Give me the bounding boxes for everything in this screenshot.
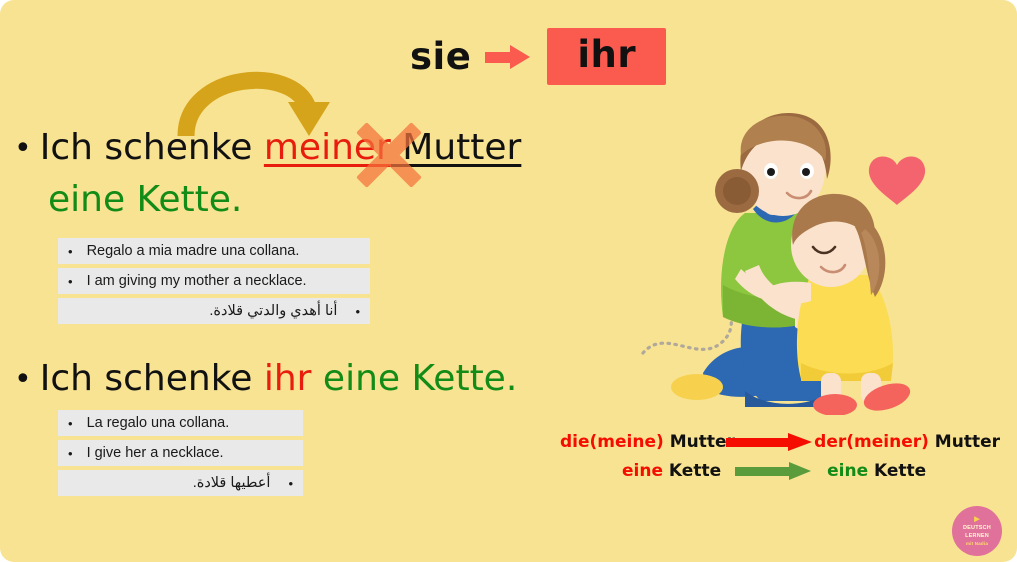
logo-line-two: mit Nadia bbox=[952, 541, 1002, 548]
channel-watermark-logo: ▶ DEUTSCH LERNEN mit Nadia bbox=[952, 506, 1002, 556]
pronoun-rule-group: sie ihr bbox=[410, 28, 666, 85]
bullet-icon: • bbox=[68, 275, 73, 288]
target-pronoun-box: ihr bbox=[547, 28, 666, 85]
source-pronoun: sie bbox=[410, 35, 471, 78]
sentence-two-part-three: eine Kette. bbox=[311, 358, 517, 399]
list-item: • أنا أهدي والدتي قلادة. bbox=[58, 298, 370, 324]
sentence-one-line-two: eine Kette. bbox=[48, 180, 242, 220]
list-item: • I am giving my mother a necklace. bbox=[58, 268, 370, 294]
slide-canvas: sie ihr •Ich schenke meiner Mutter eine … bbox=[0, 0, 1017, 562]
bullet-icon: • bbox=[14, 132, 32, 166]
bullet-icon: • bbox=[288, 477, 293, 490]
red-right-arrow-icon bbox=[726, 433, 801, 451]
legend-left-noun: Mutter bbox=[664, 432, 735, 452]
translation-arabic: أنا أهدي والدتي قلادة. bbox=[68, 303, 341, 319]
sentence-one-part-one: Ich schenke bbox=[40, 127, 264, 168]
sentence-one-period: . bbox=[231, 179, 242, 220]
legend-row-accusative-kette: eine Kette eine Kette bbox=[560, 461, 1000, 481]
grammar-legend: die(meine) Mutter der(meiner) Mutter ein… bbox=[560, 432, 1000, 481]
translations-block-two: • La regalo una collana. • I give her a … bbox=[58, 410, 303, 500]
translation-arabic: أعطيها قلادة. bbox=[68, 475, 274, 491]
legend-left-article: eine bbox=[622, 461, 663, 481]
list-item: • La regalo una collana. bbox=[58, 410, 303, 436]
bullet-icon: • bbox=[14, 363, 32, 397]
heart-icon bbox=[869, 156, 925, 205]
legend-right-article: der(meiner) bbox=[814, 432, 929, 452]
sentence-one-object: eine Kette bbox=[48, 179, 231, 220]
play-icon: ▶ bbox=[952, 515, 1002, 525]
translation-english: I give her a necklace. bbox=[87, 445, 224, 461]
translations-block-one: • Regalo a mia madre una collana. • I am… bbox=[58, 238, 370, 328]
legend-right-noun: Mutter bbox=[929, 432, 1000, 452]
mother-hugging-daughter-illustration bbox=[625, 105, 945, 415]
legend-left-noun: Kette bbox=[663, 461, 721, 481]
bullet-icon: • bbox=[68, 417, 73, 430]
green-right-arrow-icon bbox=[735, 462, 813, 480]
list-item: • أعطيها قلادة. bbox=[58, 470, 303, 496]
list-item: • Regalo a mia madre una collana. bbox=[58, 238, 370, 264]
legend-left-article: die(meine) bbox=[560, 432, 664, 452]
sentence-two: •Ich schenke ihr eine Kette. bbox=[14, 359, 517, 399]
bullet-icon: • bbox=[68, 245, 73, 258]
bullet-icon: • bbox=[355, 305, 360, 318]
sentence-one-line-one: •Ich schenke meiner Mutter bbox=[14, 128, 521, 168]
x-cross-icon bbox=[352, 118, 426, 192]
sentence-two-pronoun: ihr bbox=[264, 358, 312, 399]
translation-english: I am giving my mother a necklace. bbox=[87, 273, 307, 289]
sentence-two-part-one: Ich schenke bbox=[40, 358, 264, 399]
translation-italian: La regalo una collana. bbox=[87, 415, 230, 431]
target-pronoun: ihr bbox=[577, 33, 636, 76]
right-arrow-icon bbox=[485, 45, 533, 69]
bullet-icon: • bbox=[68, 447, 73, 460]
curved-arrow-icon bbox=[176, 58, 336, 138]
legend-right-noun: Kette bbox=[868, 461, 926, 481]
logo-line-one: DEUTSCH LERNEN bbox=[952, 525, 1002, 541]
legend-row-dative-mutter: die(meine) Mutter der(meiner) Mutter bbox=[560, 432, 1000, 452]
translation-italian: Regalo a mia madre una collana. bbox=[87, 243, 300, 259]
legend-right-article: eine bbox=[827, 461, 868, 481]
list-item: • I give her a necklace. bbox=[58, 440, 303, 466]
